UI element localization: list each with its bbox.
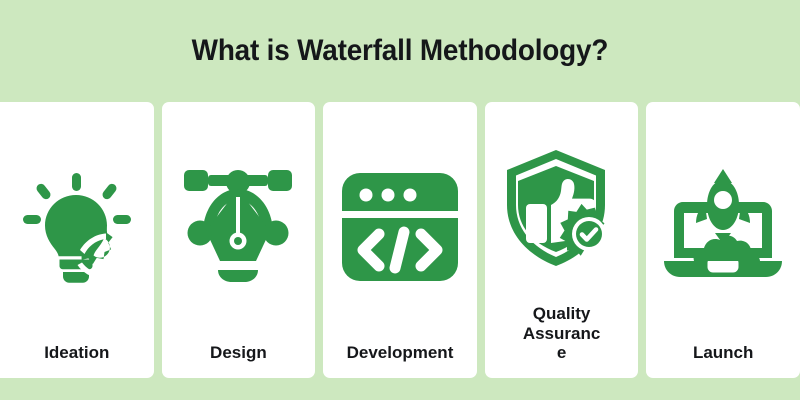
stage-card-launch[interactable]: Launch [646, 102, 800, 378]
title-bar: What is Waterfall Methodology? [0, 0, 800, 102]
stage-card-ideation[interactable]: Ideation [0, 102, 154, 378]
stage-card-development[interactable]: Development [323, 102, 477, 378]
waterfall-methodology-infographic: What is Waterfall Methodology? [0, 0, 800, 400]
pen-tool-icon [168, 112, 310, 343]
stage-label-design: Design [168, 343, 310, 364]
stage-card-row: Ideation [0, 102, 800, 400]
stage-label-quality-assurance: Quality Assurance [519, 304, 605, 364]
lightbulb-gear-icon [6, 112, 148, 343]
code-window-icon [329, 112, 471, 343]
rocket-laptop-icon [652, 112, 794, 343]
stage-card-quality-assurance[interactable]: Quality Assurance [485, 102, 639, 378]
page-title: What is Waterfall Methodology? [192, 36, 609, 66]
stage-label-ideation: Ideation [6, 343, 148, 364]
stage-label-launch: Launch [652, 343, 794, 364]
shield-thumbs-up-gear-icon [491, 112, 633, 304]
stage-label-development: Development [329, 343, 471, 364]
stage-card-design[interactable]: Design [162, 102, 316, 378]
